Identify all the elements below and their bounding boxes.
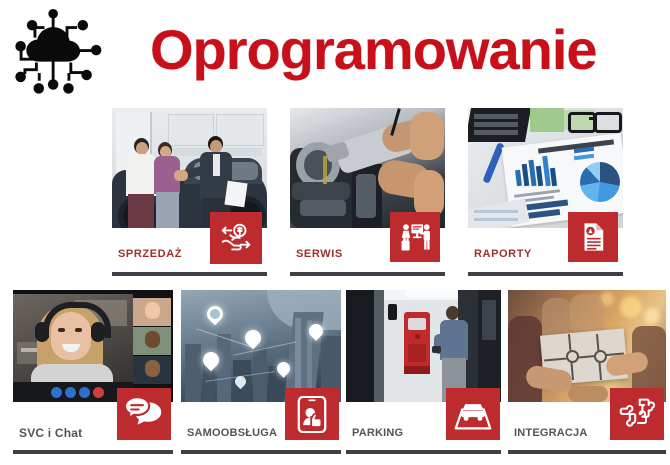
card-badge-serwis[interactable]: [390, 212, 440, 262]
card-samoobsluga[interactable]: SAMOOBSŁUGA: [181, 290, 341, 458]
report-document-icon: [576, 220, 610, 254]
card-raporty[interactable]: RAPORTY: [468, 108, 623, 268]
service-counter-icon: [397, 219, 433, 255]
card-sprzedaz[interactable]: SPRZEDAŻ: [112, 108, 267, 268]
card-badge-sprzedaz[interactable]: [210, 212, 262, 264]
card-label-svc-i-chat: SVC i Chat: [19, 426, 82, 440]
card-parking[interactable]: PARKING: [346, 290, 501, 458]
card-serwis[interactable]: SERWIS: [290, 108, 445, 268]
card-rule-integracja: [508, 450, 666, 454]
card-badge-samoobsluga[interactable]: [285, 388, 339, 440]
video-call-photo: [13, 290, 173, 402]
card-label-samoobsluga: SAMOOBSŁUGA: [187, 427, 277, 439]
card-label-parking: PARKING: [352, 427, 403, 439]
card-label-serwis: SERWIS: [296, 248, 343, 260]
card-label-integracja: INTEGRACJA: [514, 427, 588, 439]
card-rule-raporty: [468, 272, 623, 276]
puzzle-teamwork-photo: [508, 290, 666, 402]
card-label-raporty: RAPORTY: [474, 248, 532, 260]
car-dealership-handshake-photo: [112, 108, 267, 228]
card-rule-parking: [346, 450, 501, 454]
car-sale-handshake-icon: [217, 219, 255, 257]
card-rule-serwis: [290, 272, 445, 276]
car-parking-lane-icon: [454, 398, 492, 431]
card-badge-parking[interactable]: [446, 388, 500, 440]
parking-terminal-photo: [346, 290, 501, 402]
card-svc-i-chat[interactable]: SVC i Chat: [13, 290, 173, 458]
city-map-pins-photo: [181, 290, 341, 402]
card-rule-sprzedaz: [112, 272, 267, 276]
page-title: Oprogramowanie: [150, 10, 597, 90]
puzzle-pieces-icon: [617, 396, 657, 432]
card-label-sprzedaz: SPRZEDAŻ: [118, 248, 182, 260]
card-rule-samoobsluga: [181, 450, 341, 454]
chat-bubbles-icon: [125, 397, 163, 432]
cloud-network-icon: [8, 8, 104, 96]
card-badge-integracja[interactable]: [610, 388, 664, 440]
business-summary-report-photo: [468, 108, 623, 228]
engine-oil-service-photo: [290, 108, 445, 228]
page-header: Oprogramowanie: [0, 0, 670, 100]
card-badge-svc-i-chat[interactable]: [117, 388, 171, 440]
smartphone-touch-icon: [297, 396, 327, 433]
card-integracja[interactable]: INTEGRACJA: [508, 290, 666, 458]
card-badge-raporty[interactable]: [568, 212, 618, 262]
card-rule-svc-i-chat: [13, 450, 173, 454]
